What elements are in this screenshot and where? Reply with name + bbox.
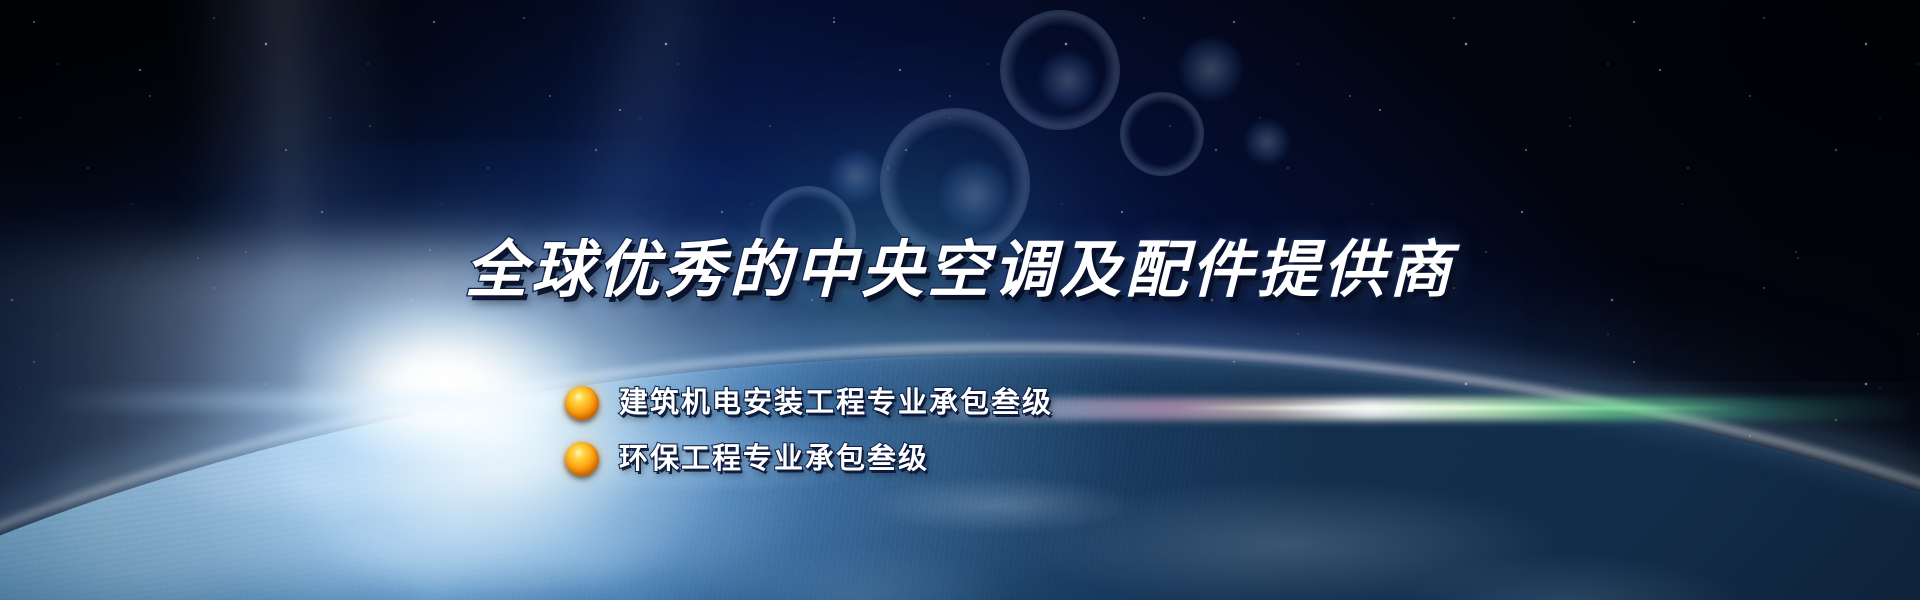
qualification-label: 建筑机电安装工程专业承包叁级 — [619, 389, 1053, 418]
banner-headline: 全球优秀的中央空调及配件提供商 — [0, 238, 1920, 305]
qualification-label: 环保工程专业承包叁级 — [619, 445, 929, 474]
hero-banner: 全球优秀的中央空调及配件提供商 建筑机电安装工程专业承包叁级 环保工程专业承包叁… — [0, 0, 1920, 600]
orange-dot-bullet-icon — [565, 442, 599, 476]
banner-content: 全球优秀的中央空调及配件提供商 建筑机电安装工程专业承包叁级 环保工程专业承包叁… — [0, 0, 1920, 600]
list-item: 环保工程专业承包叁级 — [565, 442, 1053, 476]
qualification-list: 建筑机电安装工程专业承包叁级 环保工程专业承包叁级 — [565, 386, 1053, 476]
orange-dot-bullet-icon — [565, 386, 599, 420]
list-item: 建筑机电安装工程专业承包叁级 — [565, 386, 1053, 420]
